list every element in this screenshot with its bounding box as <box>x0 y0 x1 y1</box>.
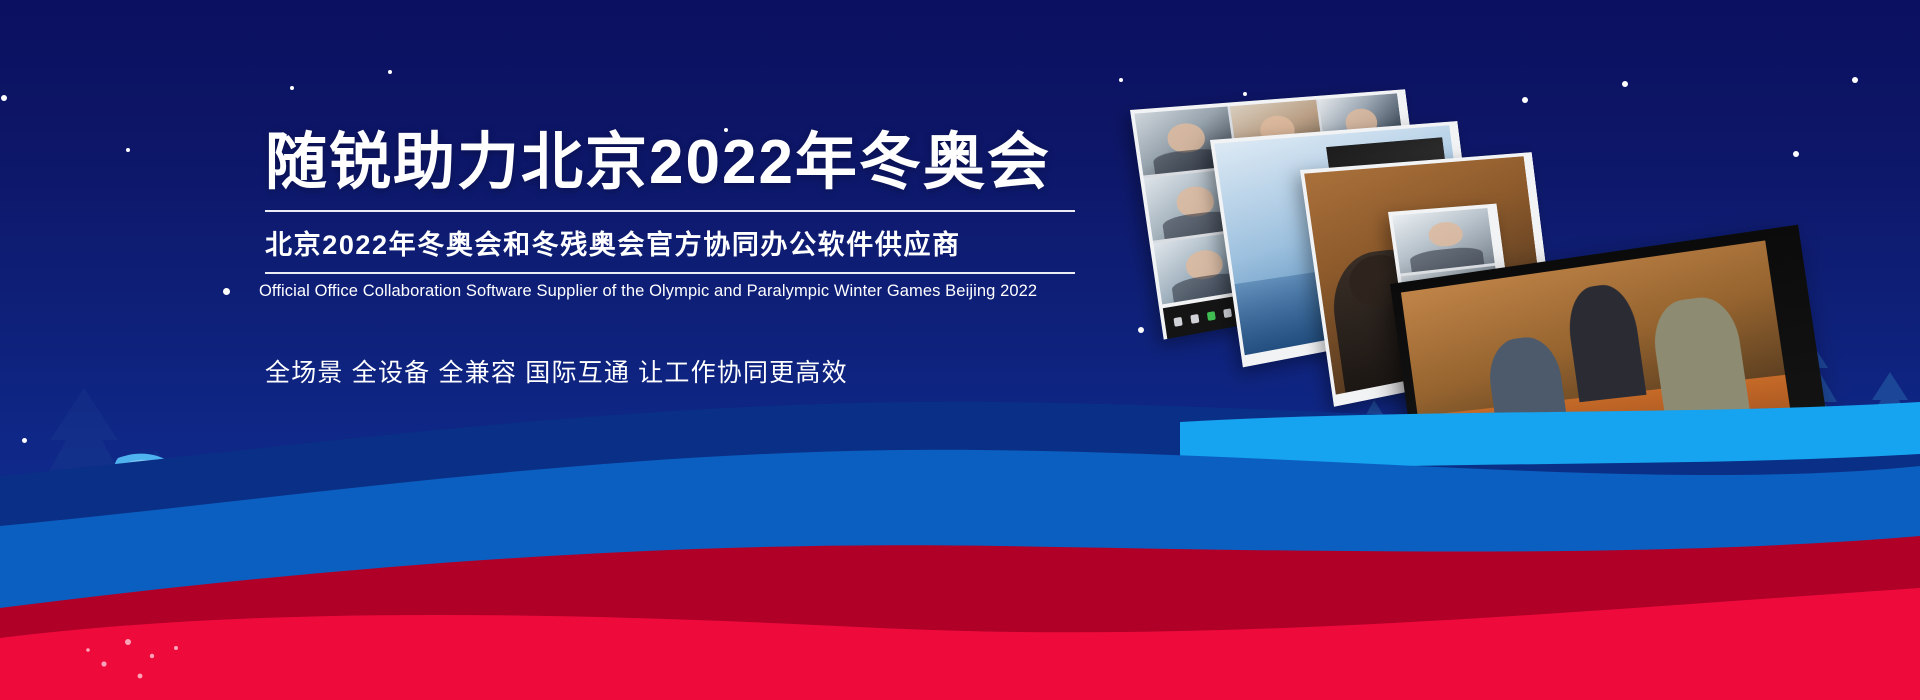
wave-decoration <box>0 350 1920 700</box>
star-icon <box>388 70 392 74</box>
english-subtitle-row: Official Office Collaboration Software S… <box>223 282 1095 301</box>
star-icon <box>1243 92 1247 96</box>
divider-top <box>265 210 1075 212</box>
banner-copy: 随锐助力北京2022年冬奥会 北京2022年冬奥会和冬残奥会官方协同办公软件供应… <box>265 130 1095 389</box>
olympic-banner: 结束会议 <box>0 0 1920 700</box>
english-subtitle: Official Office Collaboration Software S… <box>259 282 1037 301</box>
divider-bottom <box>265 272 1075 274</box>
star-icon <box>126 148 130 152</box>
star-icon <box>1138 327 1144 333</box>
page-title: 随锐助力北京2022年冬奥会 <box>265 130 1095 196</box>
tagline: 全场景 全设备 全兼容 国际互通 让工作协同更高效 <box>265 353 1095 389</box>
bullet-dot-icon <box>223 288 230 295</box>
camera-icon[interactable] <box>1190 313 1199 323</box>
star-icon <box>1 95 7 101</box>
participants-icon[interactable] <box>1223 308 1232 318</box>
video-tile <box>1392 208 1495 273</box>
star-icon <box>1622 81 1628 87</box>
share-screen-icon[interactable] <box>1207 311 1216 321</box>
star-icon <box>1852 77 1858 83</box>
subtitle: 北京2022年冬奥会和冬残奥会官方协同办公软件供应商 <box>265 223 1095 262</box>
star-icon <box>1119 78 1123 82</box>
star-icon <box>290 86 294 90</box>
microphone-icon[interactable] <box>1173 316 1182 326</box>
